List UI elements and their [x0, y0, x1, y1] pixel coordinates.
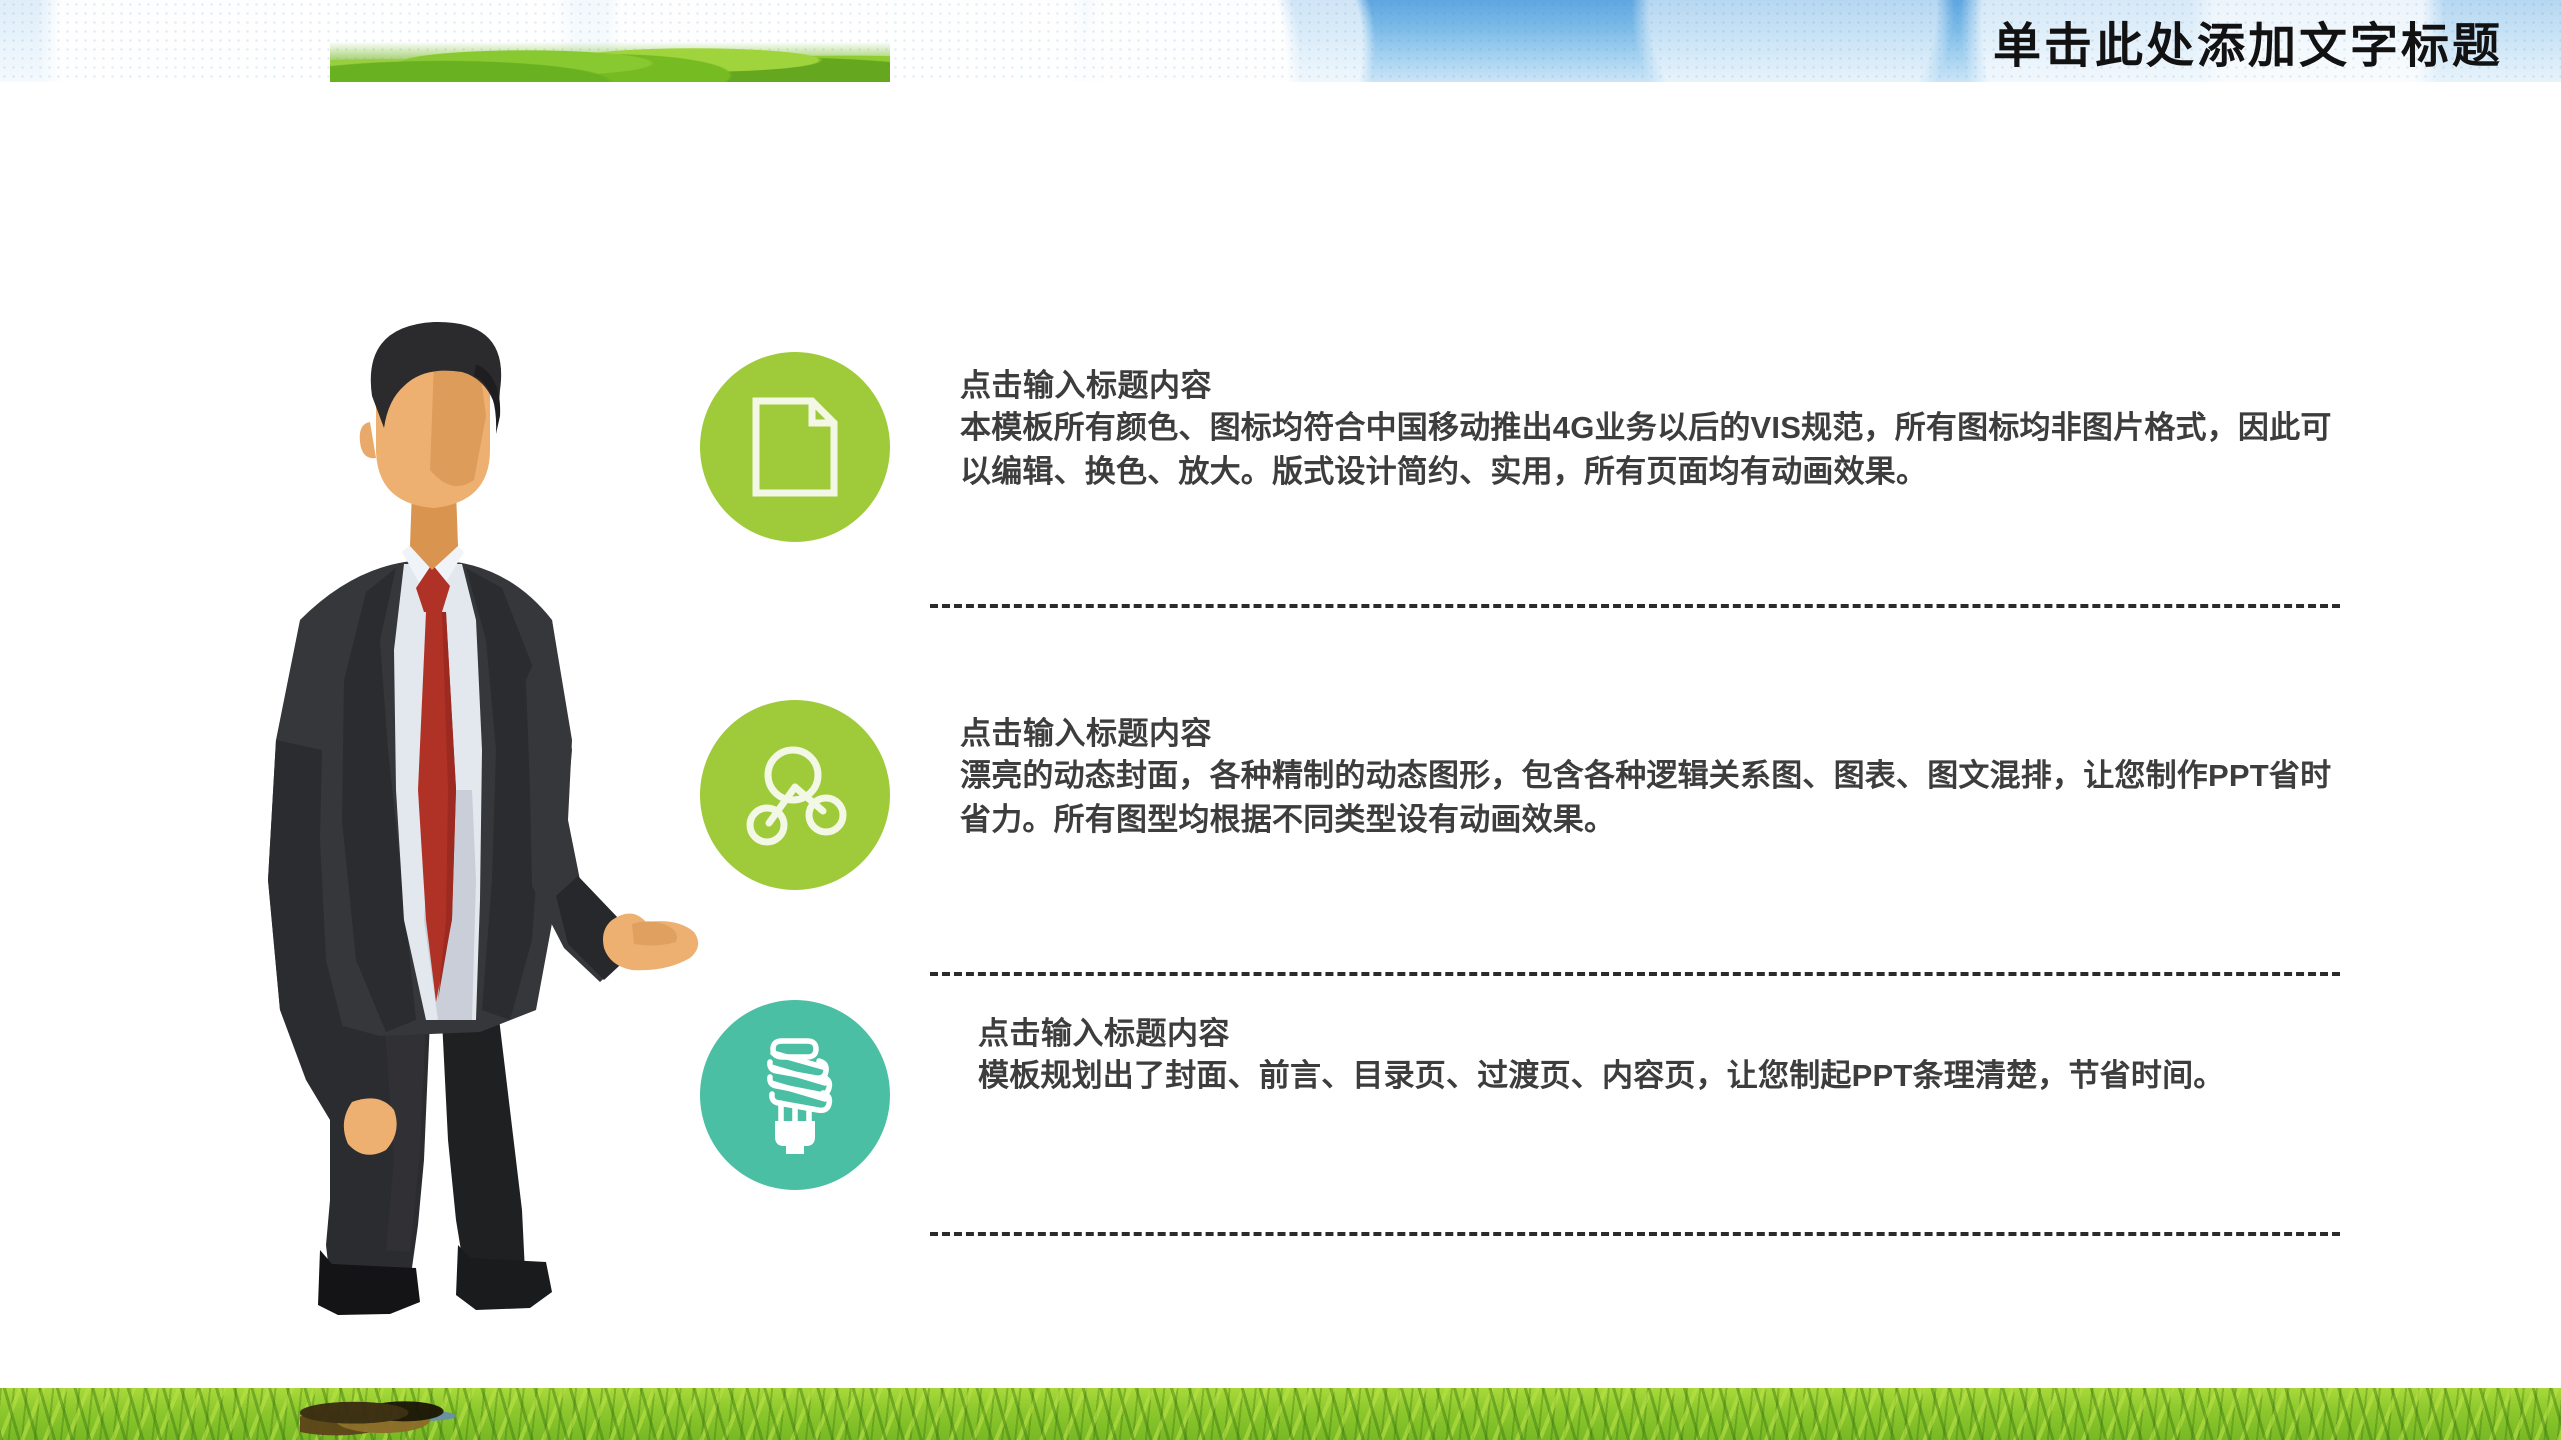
row-2-body[interactable]: 漂亮的动态封面，各种精制的动态图形，包含各种逻辑关系图、图表、图文混排，让您制作… — [960, 754, 2350, 842]
document-page-icon[interactable] — [700, 352, 890, 542]
footer-banner — [0, 1388, 2561, 1440]
network-share-nodes-icon[interactable] — [700, 700, 890, 890]
row-1-text: 点击输入标题内容 本模板所有颜色、图标均符合中国移动推出4G业务以后的VIS规范… — [960, 366, 2350, 494]
content-rows: 点击输入标题内容 本模板所有颜色、图标均符合中国移动推出4G业务以后的VIS规范… — [0, 0, 2561, 1440]
row-1-body[interactable]: 本模板所有颜色、图标均符合中国移动推出4G业务以后的VIS规范，所有图标均非图片… — [960, 406, 2350, 494]
butterfly-icon — [300, 1392, 480, 1438]
slide-canvas: 单击此处添加文字标题 — [0, 0, 2561, 1440]
dashed-divider-3 — [930, 1232, 2340, 1236]
row-2-text: 点击输入标题内容 漂亮的动态封面，各种精制的动态图形，包含各种逻辑关系图、图表、… — [960, 714, 2350, 842]
row-3-text: 点击输入标题内容 模板规划出了封面、前言、目录页、过渡页、内容页，让您制起PPT… — [978, 1014, 2368, 1098]
row-3-body[interactable]: 模板规划出了封面、前言、目录页、过渡页、内容页，让您制起PPT条理清楚，节省时间… — [978, 1054, 2368, 1098]
dashed-divider-2 — [930, 972, 2340, 976]
row-2-title[interactable]: 点击输入标题内容 — [960, 714, 2350, 754]
row-1-title[interactable]: 点击输入标题内容 — [960, 366, 2350, 406]
row-3-title[interactable]: 点击输入标题内容 — [978, 1014, 2368, 1054]
dashed-divider-1 — [930, 604, 2340, 608]
cfl-lightbulb-icon[interactable] — [700, 1000, 890, 1190]
